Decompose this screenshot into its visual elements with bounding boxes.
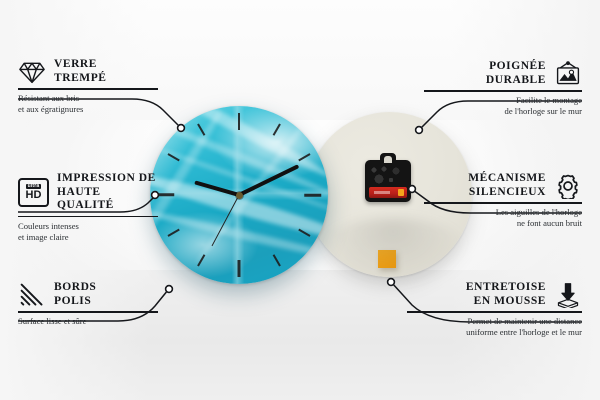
- callout-subtitle: Les aiguilles de l'horloge ne font aucun…: [424, 207, 582, 229]
- callout-subtitle: Résistant aux bris et aux égratignures: [18, 93, 158, 115]
- mechanism-details: [370, 166, 406, 184]
- callout-subtitle: Couleurs intenses et image claire: [18, 221, 158, 243]
- ultra-hd-icon-ultra-text: ultra: [26, 184, 42, 189]
- callout-rule: [424, 90, 582, 92]
- picture-frame-hanger-icon: [554, 61, 582, 87]
- clock-tick: [238, 260, 241, 277]
- ultra-hd-icon: ultra HD: [18, 178, 49, 207]
- callout-title: MÉCANISME SILENCIEUX: [468, 172, 546, 199]
- callout-title: ENTRETOISE EN MOUSSE: [466, 281, 546, 308]
- callout-rule: [407, 311, 582, 313]
- clock-front-image: [150, 106, 328, 284]
- callout-title: IMPRESSION DE HAUTE QUALITÉ: [57, 172, 158, 213]
- clock-tick: [238, 113, 241, 130]
- ultra-hd-icon-hd-text: HD: [26, 190, 42, 201]
- callout-verre-trempe: VERRE TREMPÉ Résistant aux bris et aux é…: [18, 58, 158, 115]
- battery: [369, 187, 407, 198]
- callout-impression-haute-qualite: ultra HD IMPRESSION DE HAUTE QUALITÉ Cou…: [18, 172, 158, 243]
- mechanism-hanger-tab: [380, 153, 396, 163]
- clock-tick: [304, 194, 321, 197]
- callout-rule: [18, 216, 158, 218]
- callout-rule: [424, 202, 582, 204]
- callout-title: POIGNÉE DURABLE: [486, 60, 546, 87]
- callout-subtitle: Surface lisse et sûre: [18, 316, 158, 327]
- callout-title: BORDS POLIS: [54, 281, 96, 308]
- callout-subtitle: Facilite le montage de l'horloge sur le …: [424, 95, 582, 117]
- callout-subtitle: Permet de maintenir une distance uniform…: [407, 316, 582, 338]
- clock-mechanism: [365, 160, 411, 202]
- callout-rule: [18, 88, 158, 90]
- callout-entretoise-en-mousse: ENTRETOISE EN MOUSSE Permet de maintenir…: [407, 281, 582, 338]
- foam-spacer-arrow-icon: [554, 282, 582, 308]
- hand-center-cap: [236, 192, 243, 199]
- diamond-icon: [18, 59, 46, 85]
- callout-title: VERRE TREMPÉ: [54, 58, 107, 85]
- callout-mecanisme-silencieux: MÉCANISME SILENCIEUX Les aiguilles de l'…: [424, 172, 582, 229]
- clock-tick: [157, 194, 174, 197]
- product-infographic: VERRE TREMPÉ Résistant aux bris et aux é…: [0, 0, 600, 400]
- callout-bords-polis: BORDS POLIS Surface lisse et sûre: [18, 281, 158, 327]
- callout-poignee-durable: POIGNÉE DURABLE Facilite le montage de l…: [424, 60, 582, 117]
- polished-edges-icon: [18, 282, 46, 308]
- gear-icon: [554, 173, 582, 199]
- callout-rule: [18, 311, 158, 313]
- foam-spacer: [378, 250, 396, 268]
